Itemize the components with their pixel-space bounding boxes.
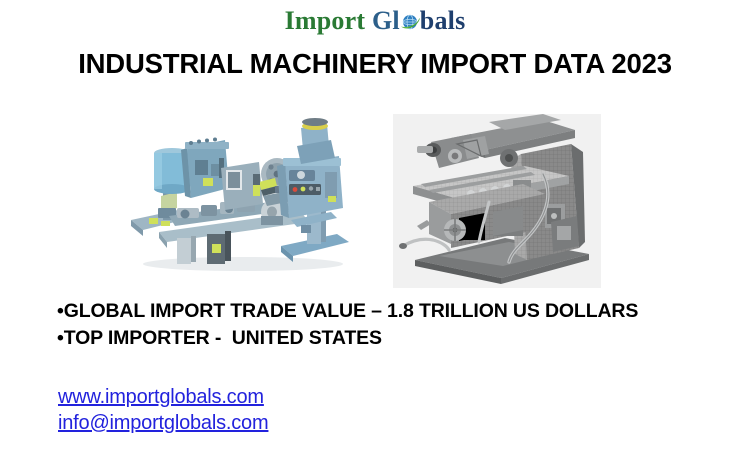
bullet-text: TOP IMPORTER - UNITED STATES xyxy=(64,327,382,349)
contact-links: www.importglobals.com info@importglobals… xyxy=(58,384,268,436)
bullet-text: GLOBAL IMPORT TRADE VALUE – 1.8 TRILLION… xyxy=(64,300,638,322)
website-link[interactable]: www.importglobals.com xyxy=(58,384,268,410)
bullet-list: •GLOBAL IMPORT TRADE VALUE – 1.8 TRILLIO… xyxy=(57,298,737,352)
bullet-marker: • xyxy=(57,300,64,322)
list-item: •TOP IMPORTER - UNITED STATES xyxy=(57,325,737,352)
milling-machine-cad-render xyxy=(393,114,601,288)
list-item: •GLOBAL IMPORT TRADE VALUE – 1.8 TRILLIO… xyxy=(57,298,737,325)
page-title: INDUSTRIAL MACHINERY IMPORT DATA 2023 xyxy=(0,48,750,80)
brand-logo: Import Gl bals xyxy=(0,6,750,36)
logo-text-gl: Gl xyxy=(372,6,400,35)
globe-swoosh-icon xyxy=(399,10,421,32)
industrial-machinery-photo xyxy=(125,112,355,280)
bullet-marker: • xyxy=(57,327,64,349)
logo-text-import: Import xyxy=(285,6,366,35)
email-link[interactable]: info@importglobals.com xyxy=(58,410,268,436)
logo-text-bals: bals xyxy=(420,6,466,35)
